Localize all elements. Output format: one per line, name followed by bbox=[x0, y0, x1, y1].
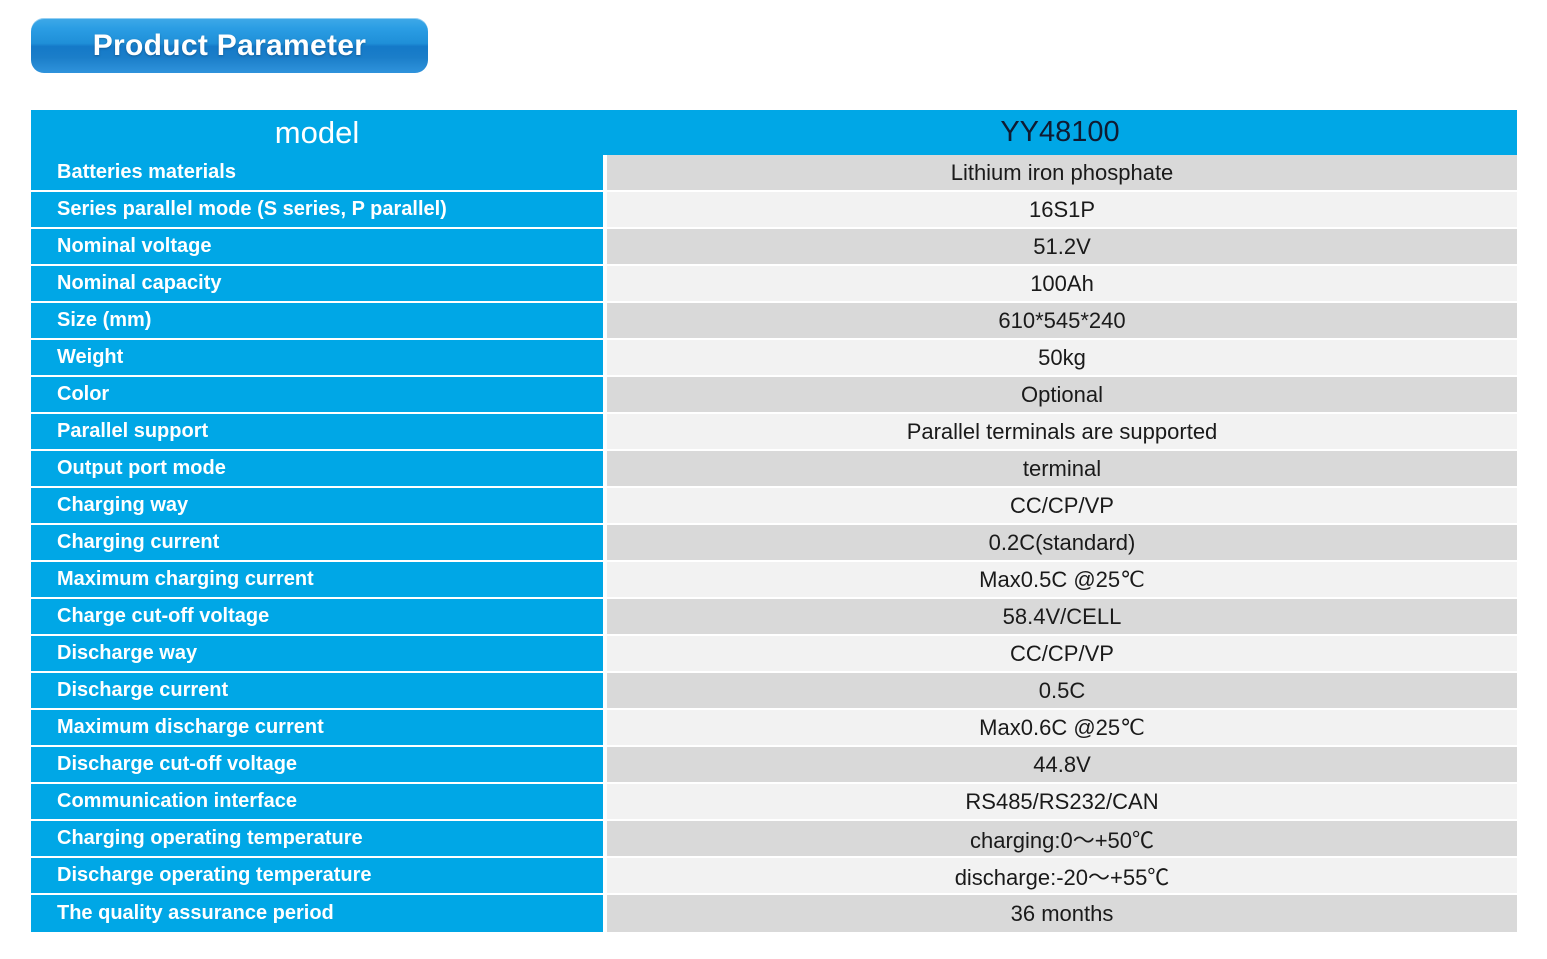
table-row: Maximum charging currentMax0.5C @25℃ bbox=[31, 562, 1517, 599]
table-cell-label: Nominal voltage bbox=[31, 229, 603, 266]
table-cell-value: Max0.6C @25℃ bbox=[607, 710, 1517, 747]
table-row: Charge cut-off voltage58.4V/CELL bbox=[31, 599, 1517, 636]
table-row: Discharge operating temperaturedischarge… bbox=[31, 858, 1517, 895]
table-cell-label: Nominal capacity bbox=[31, 266, 603, 303]
table-row: Series parallel mode (S series, P parall… bbox=[31, 192, 1517, 229]
table-header-model-value: YY48100 bbox=[603, 110, 1517, 155]
table-row: Output port modeterminal bbox=[31, 451, 1517, 488]
table-row: Nominal voltage51.2V bbox=[31, 229, 1517, 266]
table-cell-value: 44.8V bbox=[607, 747, 1517, 784]
table-cell-value: 51.2V bbox=[607, 229, 1517, 266]
table-cell-value: Max0.5C @25℃ bbox=[607, 562, 1517, 599]
table-row: Discharge cut-off voltage44.8V bbox=[31, 747, 1517, 784]
table-cell-value: CC/CP/VP bbox=[607, 488, 1517, 525]
section-badge: Product Parameter bbox=[31, 18, 428, 73]
table-cell-value: 100Ah bbox=[607, 266, 1517, 303]
table-header-model: model bbox=[31, 110, 603, 155]
table-cell-label: Discharge way bbox=[31, 636, 603, 673]
table-row: Communication interfaceRS485/RS232/CAN bbox=[31, 784, 1517, 821]
table-cell-label: Discharge operating temperature bbox=[31, 858, 603, 895]
table-cell-label: Charge cut-off voltage bbox=[31, 599, 603, 636]
table-row: Charging operating temperaturecharging:0… bbox=[31, 821, 1517, 858]
table-row: Discharge wayCC/CP/VP bbox=[31, 636, 1517, 673]
table-cell-value: terminal bbox=[607, 451, 1517, 488]
table-cell-label: Size (mm) bbox=[31, 303, 603, 340]
table-cell-label: Maximum discharge current bbox=[31, 710, 603, 747]
table-cell-value: Lithium iron phosphate bbox=[607, 155, 1517, 192]
table-cell-value: 0.5C bbox=[607, 673, 1517, 710]
table-cell-value: charging:0～+50℃ bbox=[607, 821, 1517, 858]
product-parameter-table: model YY48100 Batteries materialsLithium… bbox=[31, 110, 1517, 932]
table-cell-label: Charging current bbox=[31, 525, 603, 562]
table-row: Parallel supportParallel terminals are s… bbox=[31, 414, 1517, 451]
table-cell-value: 50kg bbox=[607, 340, 1517, 377]
table-cell-label: Maximum charging current bbox=[31, 562, 603, 599]
table-cell-value: Parallel terminals are supported bbox=[607, 414, 1517, 451]
table-cell-value: 610*545*240 bbox=[607, 303, 1517, 340]
section-badge-label: Product Parameter bbox=[93, 29, 367, 63]
table-row: Discharge current0.5C bbox=[31, 673, 1517, 710]
table-cell-value: 16S1P bbox=[607, 192, 1517, 229]
table-cell-label: Weight bbox=[31, 340, 603, 377]
table-cell-label: Output port mode bbox=[31, 451, 603, 488]
table-row: Nominal capacity100Ah bbox=[31, 266, 1517, 303]
table-row: The quality assurance period36 months bbox=[31, 895, 1517, 932]
table-cell-label: Charging way bbox=[31, 488, 603, 525]
table-row: Maximum discharge currentMax0.6C @25℃ bbox=[31, 710, 1517, 747]
table-cell-value: Optional bbox=[607, 377, 1517, 414]
table-cell-label: Series parallel mode (S series, P parall… bbox=[31, 192, 603, 229]
table-row: Size (mm)610*545*240 bbox=[31, 303, 1517, 340]
table-cell-value: 58.4V/CELL bbox=[607, 599, 1517, 636]
table-cell-value: discharge:-20～+55℃ bbox=[607, 858, 1517, 895]
table-header-row: model YY48100 bbox=[31, 110, 1517, 155]
table-cell-label: Charging operating temperature bbox=[31, 821, 603, 858]
table-cell-label: Batteries materials bbox=[31, 155, 603, 192]
table-cell-label: Color bbox=[31, 377, 603, 414]
table-cell-value: CC/CP/VP bbox=[607, 636, 1517, 673]
table-cell-value: 36 months bbox=[607, 895, 1517, 932]
table-body: Batteries materialsLithium iron phosphat… bbox=[31, 155, 1517, 932]
table-cell-label: The quality assurance period bbox=[31, 895, 603, 932]
table-cell-value: RS485/RS232/CAN bbox=[607, 784, 1517, 821]
table-row: Charging current0.2C(standard) bbox=[31, 525, 1517, 562]
table-cell-value: 0.2C(standard) bbox=[607, 525, 1517, 562]
table-cell-label: Discharge current bbox=[31, 673, 603, 710]
table-cell-label: Communication interface bbox=[31, 784, 603, 821]
table-row: Batteries materialsLithium iron phosphat… bbox=[31, 155, 1517, 192]
table-cell-label: Discharge cut-off voltage bbox=[31, 747, 603, 784]
table-row: ColorOptional bbox=[31, 377, 1517, 414]
table-row: Charging wayCC/CP/VP bbox=[31, 488, 1517, 525]
table-row: Weight50kg bbox=[31, 340, 1517, 377]
table-cell-label: Parallel support bbox=[31, 414, 603, 451]
product-parameter-page: Product Parameter model YY48100 Batterie… bbox=[0, 0, 1547, 959]
